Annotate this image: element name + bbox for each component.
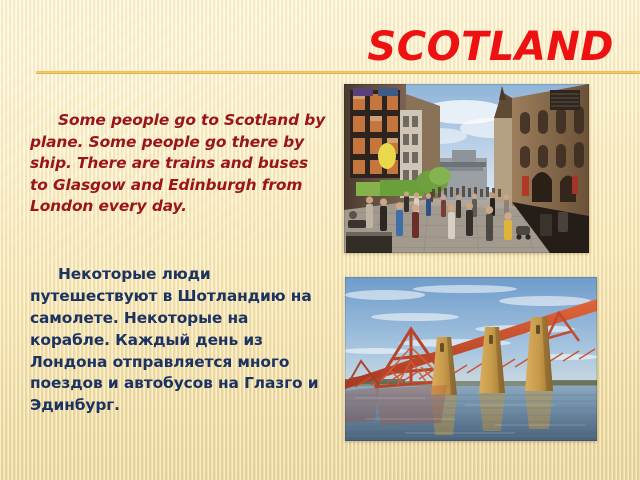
russian-paragraph: Некоторые люди путешествуют в Шотландию … [30,264,332,417]
title-divider-rule [36,71,640,74]
glasgow-street-photo [344,84,589,253]
forth-bridge-photo [345,277,597,441]
glasgow-street-illustration [344,84,589,253]
presentation-slide: SCOTLAND Some people go to Scotland by p… [0,0,640,480]
title-area: SCOTLAND [0,26,640,84]
page-title: SCOTLAND [367,26,614,68]
english-paragraph: Some people go to Scotland by plane. Som… [30,110,330,218]
forth-bridge-illustration [345,277,597,441]
